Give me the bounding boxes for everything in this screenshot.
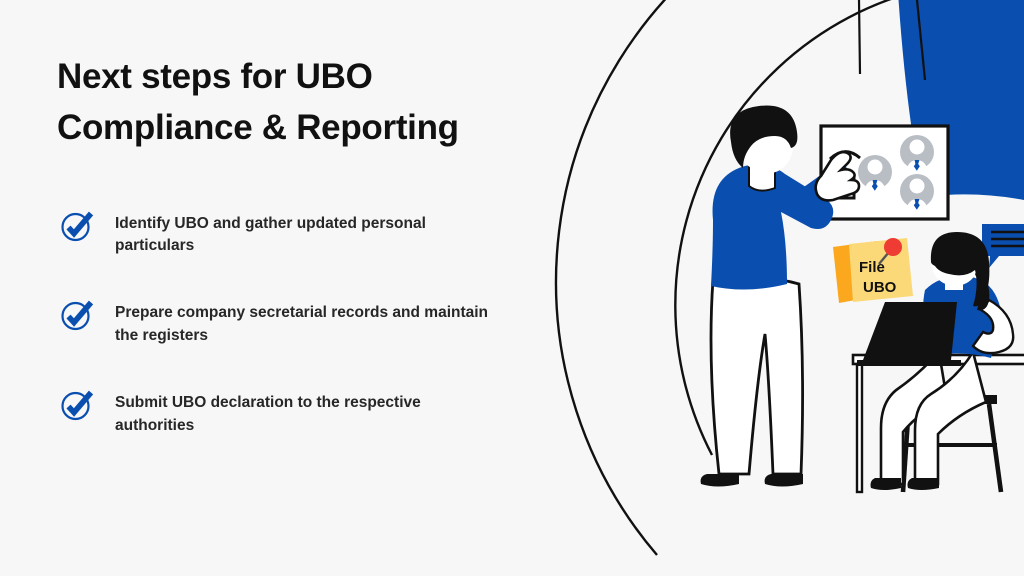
slide-root: Next steps for UBOCompliance & Reporting…: [0, 0, 1024, 576]
list-item-label: Prepare company secretarial records and …: [115, 301, 495, 347]
next-steps-list: Identify UBO and gather updated personal…: [57, 212, 527, 438]
list-item: Prepare company secretarial records and …: [57, 301, 527, 347]
list-item-label: Identify UBO and gather updated personal…: [115, 212, 495, 258]
list-item: Identify UBO and gather updated personal…: [57, 212, 527, 258]
sticky-note-line-2: UBO: [863, 279, 897, 296]
radial-line-1: [859, 0, 860, 74]
outer-arc: [556, 0, 732, 555]
ubo-compliance-illustration: File UBO: [527, 0, 1024, 576]
page-title-line-1: Next steps for UBO: [57, 57, 373, 96]
page-title-line-2: Compliance & Reporting: [57, 108, 459, 147]
check-circle-icon: [57, 384, 97, 424]
check-circle-icon: [57, 294, 97, 334]
list-item: Submit UBO declaration to the respective…: [57, 391, 527, 437]
page-title: Next steps for UBOCompliance & Reporting: [57, 52, 527, 154]
list-item-label: Submit UBO declaration to the respective…: [115, 391, 495, 437]
sticky-note: File UBO: [833, 238, 913, 303]
check-circle-icon: [57, 205, 97, 245]
content-panel: Next steps for UBOCompliance & Reporting…: [57, 52, 527, 437]
